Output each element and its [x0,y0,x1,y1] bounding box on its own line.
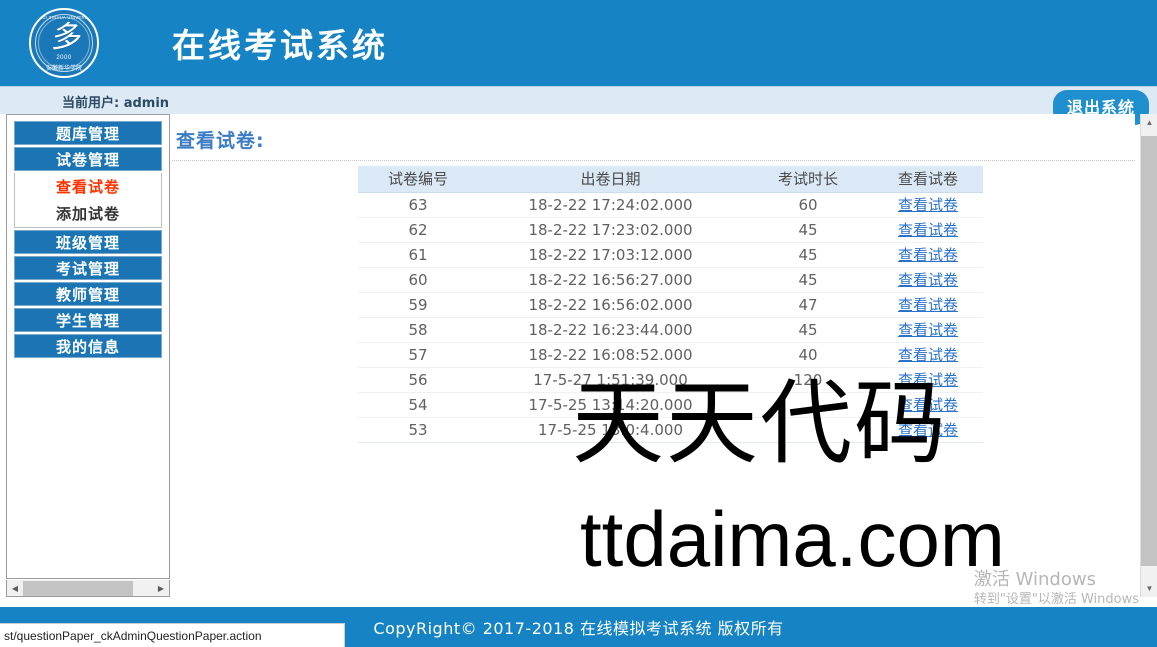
table-row: 5317-5-25 13:0:4.000查看试卷 [358,417,983,442]
cell-create-date: 18-2-22 16:08:52.000 [478,342,743,367]
column-header-action: 查看试卷 [873,166,983,192]
cell-action[interactable]: 查看试卷 [873,342,983,367]
sidebar-item-student-management[interactable]: 学生管理 [14,308,162,332]
scroll-right-icon[interactable]: ▶ [153,581,169,596]
column-header-create-date: 出卷日期 [478,166,743,192]
cell-paper-id: 62 [358,217,478,242]
sidebar-item-view-papers[interactable]: 查看试卷 [15,173,161,200]
table-row: 6018-2-22 16:56:27.00045查看试卷 [358,267,983,292]
logo-year-text: 2000 [31,55,97,61]
main-content: 查看试卷: 试卷编号 出卷日期 考试时长 查看试卷 6318-2-22 17:2… [172,114,1135,597]
table-row: 5617-5-27 1:51:39.000120查看试卷 [358,367,983,392]
column-header-duration: 考试时长 [743,166,873,192]
logo-container: ANHUI XINHUA UNIVERSITY 多 2000 安徽新华学院 [16,0,112,86]
site-title: 在线考试系统 [172,19,388,67]
cell-action[interactable]: 查看试卷 [873,317,983,342]
cell-paper-id: 61 [358,242,478,267]
cell-paper-id: 63 [358,192,478,217]
sidebar-submenu-paper: 查看试卷 添加试卷 [14,173,162,228]
cell-duration [743,417,873,442]
sidebar-horizontal-scrollbar[interactable]: ◀ ▶ [6,580,170,597]
online-exam-system-page: ANHUI XINHUA UNIVERSITY 多 2000 安徽新华学院 在线… [0,0,1157,647]
view-paper-link[interactable]: 查看试卷 [898,246,958,264]
cell-create-date: 18-2-22 16:23:44.000 [478,317,743,342]
scroll-down-icon[interactable]: ▼ [1141,580,1157,597]
logo-arc-bottom-text: 安徽新华学院 [31,63,97,72]
current-user-label: 当前用户: admin [62,92,169,111]
cell-action[interactable]: 查看试卷 [873,417,983,442]
cell-duration [743,392,873,417]
sidebar-item-add-paper[interactable]: 添加试卷 [15,200,161,227]
table-row: 6318-2-22 17:24:02.00060查看试卷 [358,192,983,217]
view-paper-link[interactable]: 查看试卷 [898,371,958,389]
cell-create-date: 17-5-25 13:14:20.000 [478,392,743,417]
paper-table-head: 试卷编号 出卷日期 考试时长 查看试卷 [358,166,983,192]
view-paper-link[interactable]: 查看试卷 [898,296,958,314]
browser-status-bar: st/questionPaper_ckAdminQuestionPaper.ac… [0,623,345,647]
view-paper-link[interactable]: 查看试卷 [898,346,958,364]
cell-action[interactable]: 查看试卷 [873,192,983,217]
paper-table: 试卷编号 出卷日期 考试时长 查看试卷 6318-2-22 17:24:02.0… [358,166,983,443]
sidebar-item-exam-management[interactable]: 考试管理 [14,256,162,280]
scroll-left-icon[interactable]: ◀ [7,581,23,596]
cell-duration: 45 [743,317,873,342]
page-header: ANHUI XINHUA UNIVERSITY 多 2000 安徽新华学院 在线… [0,0,1157,86]
cell-paper-id: 60 [358,267,478,292]
cell-duration: 45 [743,267,873,292]
cell-create-date: 17-5-25 13:0:4.000 [478,417,743,442]
user-bar: 当前用户: admin 退出系统 [0,86,1157,114]
paper-table-container: 试卷编号 出卷日期 考试时长 查看试卷 6318-2-22 17:24:02.0… [358,166,983,443]
cell-duration: 47 [743,292,873,317]
table-header-row: 试卷编号 出卷日期 考试时长 查看试卷 [358,166,983,192]
view-paper-link[interactable]: 查看试卷 [898,196,958,214]
sidebar-menu: 题库管理 试卷管理 查看试卷 添加试卷 班级管理 考试管理 教师管理 学生管理 … [7,115,169,358]
sidebar-item-paper-management[interactable]: 试卷管理 [14,147,162,171]
cell-action[interactable]: 查看试卷 [873,392,983,417]
cell-create-date: 18-2-22 16:56:27.000 [478,267,743,292]
paper-table-body: 6318-2-22 17:24:02.00060查看试卷6218-2-22 17… [358,192,983,442]
cell-create-date: 18-2-22 17:23:02.000 [478,217,743,242]
column-header-paper-id: 试卷编号 [358,166,478,192]
cell-paper-id: 57 [358,342,478,367]
view-paper-link[interactable]: 查看试卷 [898,221,958,239]
cell-duration: 60 [743,192,873,217]
view-paper-link[interactable]: 查看试卷 [898,396,958,414]
cell-paper-id: 58 [358,317,478,342]
table-row: 6218-2-22 17:23:02.00045查看试卷 [358,217,983,242]
table-row: 5417-5-25 13:14:20.000查看试卷 [358,392,983,417]
scroll-up-icon[interactable]: ▲ [1141,114,1157,131]
cell-action[interactable]: 查看试卷 [873,367,983,392]
sidebar-item-question-bank[interactable]: 题库管理 [14,121,162,145]
cell-action[interactable]: 查看试卷 [873,267,983,292]
cell-action[interactable]: 查看试卷 [873,292,983,317]
title-divider [172,160,1135,161]
page-vertical-scrollbar[interactable]: ▲ ▼ [1140,114,1157,597]
page-title: 查看试卷: [176,126,265,153]
sidebar-item-teacher-management[interactable]: 教师管理 [14,282,162,306]
sidebar-item-my-info[interactable]: 我的信息 [14,334,162,358]
table-row: 5818-2-22 16:23:44.00045查看试卷 [358,317,983,342]
horizontal-scroll-thumb[interactable] [23,581,133,596]
cell-create-date: 17-5-27 1:51:39.000 [478,367,743,392]
cell-paper-id: 59 [358,292,478,317]
cell-paper-id: 53 [358,417,478,442]
cell-duration: 40 [743,342,873,367]
view-paper-link[interactable]: 查看试卷 [898,271,958,289]
horizontal-scroll-track[interactable] [23,581,153,596]
cell-action[interactable]: 查看试卷 [873,242,983,267]
cell-create-date: 18-2-22 17:24:02.000 [478,192,743,217]
table-row: 5718-2-22 16:08:52.00040查看试卷 [358,342,983,367]
copyright-text: CopyRight© 2017-2018 在线模拟考试系统 版权所有 [373,615,783,639]
sidebar-item-class-management[interactable]: 班级管理 [14,230,162,254]
vertical-scroll-thumb[interactable] [1141,136,1157,566]
view-paper-link[interactable]: 查看试卷 [898,321,958,339]
cell-create-date: 18-2-22 17:03:12.000 [478,242,743,267]
cell-duration: 45 [743,242,873,267]
cell-duration: 45 [743,217,873,242]
table-row: 5918-2-22 16:56:02.00047查看试卷 [358,292,983,317]
cell-duration: 120 [743,367,873,392]
logo-glyph: 多 [50,23,78,53]
cell-action[interactable]: 查看试卷 [873,217,983,242]
cell-create-date: 18-2-22 16:56:02.000 [478,292,743,317]
sidebar-frame: 题库管理 试卷管理 查看试卷 添加试卷 班级管理 考试管理 教师管理 学生管理 … [6,114,170,579]
status-bar-url: st/questionPaper_ckAdminQuestionPaper.ac… [4,629,262,643]
table-row: 6118-2-22 17:03:12.00045查看试卷 [358,242,983,267]
university-logo-icon: ANHUI XINHUA UNIVERSITY 多 2000 安徽新华学院 [29,8,99,78]
cell-paper-id: 56 [358,367,478,392]
view-paper-link[interactable]: 查看试卷 [898,421,958,439]
cell-paper-id: 54 [358,392,478,417]
